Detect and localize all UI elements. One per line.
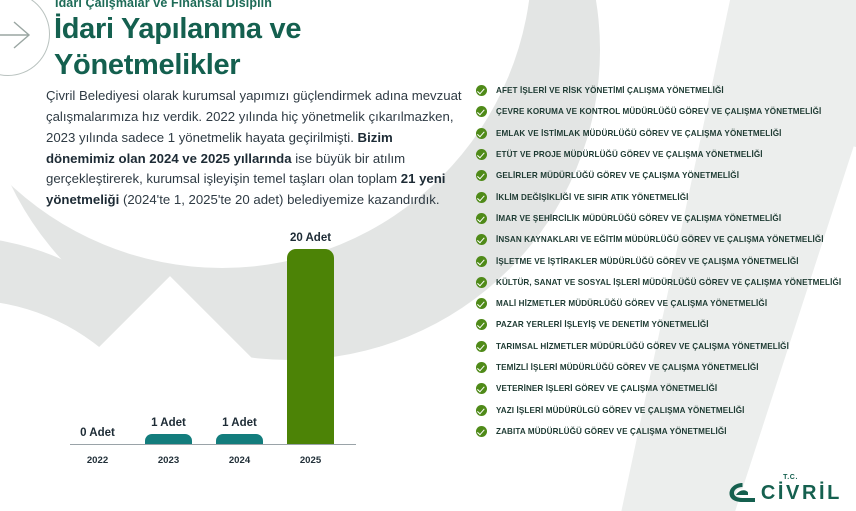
check-circle-icon (476, 426, 487, 437)
list-item-label: GELİRLER MÜDÜRLÜĞÜ GÖREV VE ÇALIŞMA YÖNE… (496, 171, 739, 180)
list-item-label: İŞLETME VE İŞTİRAKLER MÜDÜRLÜĞÜ GÖREV VE… (496, 257, 799, 266)
check-circle-icon (476, 128, 487, 139)
bar-value-2023: 1 Adet (135, 417, 202, 429)
check-circle-icon (476, 106, 487, 117)
bar-value-2025: 20 Adet (277, 232, 344, 244)
eyebrow-label: İdari Çalışmalar ve Finansal Disiplin (55, 0, 272, 10)
bar-category-2024: 2024 (206, 455, 273, 466)
list-item: TARIMSAL HİZMETLER MÜDÜRLÜĞÜ GÖREV VE ÇA… (476, 336, 852, 357)
list-item: İKLİM DEĞİŞİKLİĞİ VE SIFIR ATIK YÖNETMEL… (476, 186, 852, 207)
logo-tc-label: T.C. (729, 474, 798, 481)
list-item-label: YAZI İŞLERİ MÜDÜRÜLGÜ GÖREV VE ÇALIŞMA Y… (496, 406, 745, 415)
bar-category-2025: 2025 (277, 455, 344, 466)
body-paragraph: Çivril Belediyesi olarak kurumsal yapımı… (46, 86, 464, 211)
check-circle-icon (476, 85, 487, 96)
body-text-3: (2024'te 1, 2025'te 20 adet) belediyemiz… (119, 192, 439, 207)
arrow-right-circle-icon (0, 0, 50, 76)
list-item: EMLAK VE İSTİMLAK MÜDÜRLÜĞÜ GÖREV VE ÇAL… (476, 123, 852, 144)
logo-wordmark: CİVRİL (761, 483, 842, 503)
list-item-label: İNSAN KAYNAKLARI VE EĞİTİM MÜDÜRLÜĞÜ GÖR… (496, 235, 824, 244)
list-item-label: TEMİZLİ İŞLERİ MÜDÜRLÜĞÜ GÖREV VE ÇALIŞM… (496, 363, 759, 372)
bar-value-2024: 1 Adet (206, 417, 273, 429)
chart-plot-area: 0 Adet20221 Adet20231 Adet202420 Adet202… (60, 222, 360, 472)
check-circle-icon (476, 319, 487, 330)
list-item: AFET İŞLERİ VE RİSK YÖNETİMİ ÇALIŞMA YÖN… (476, 80, 852, 101)
check-circle-icon (476, 192, 487, 203)
list-item: MALİ HİZMETLER MÜDÜRLÜĞÜ GÖREV VE ÇALIŞM… (476, 293, 852, 314)
list-item: ETÜT VE PROJE MÜDÜRLÜĞÜ GÖREV VE ÇALIŞMA… (476, 144, 852, 165)
bar-category-2023: 2023 (135, 455, 202, 466)
check-circle-icon (476, 362, 487, 373)
list-item: YAZI İŞLERİ MÜDÜRÜLGÜ GÖREV VE ÇALIŞMA Y… (476, 399, 852, 420)
body-text-1: Çivril Belediyesi olarak kurumsal yapımı… (46, 88, 462, 145)
civril-logo: T.C. CİVRİL (729, 474, 842, 503)
bar-category-2022: 2022 (64, 455, 131, 466)
list-item: KÜLTÜR, SANAT VE SOSYAL İŞLERİ MÜDÜRLÜĞÜ… (476, 272, 852, 293)
check-circle-icon (476, 170, 487, 181)
check-circle-icon (476, 405, 487, 416)
list-item-label: ZABITA MÜDÜRLÜĞÜ GÖREV VE ÇALIŞMA YÖNETM… (496, 427, 727, 436)
check-circle-icon (476, 298, 487, 309)
list-item: İNSAN KAYNAKLARI VE EĞİTİM MÜDÜRLÜĞÜ GÖR… (476, 229, 852, 250)
list-item-label: İMAR VE ŞEHİRCİLİK MÜDÜRLÜĞÜ GÖREV VE ÇA… (496, 214, 781, 223)
bar-2025 (287, 249, 334, 444)
list-item-label: TARIMSAL HİZMETLER MÜDÜRLÜĞÜ GÖREV VE ÇA… (496, 342, 789, 351)
yonetmelik-bar-chart: 0 Adet20221 Adet20231 Adet202420 Adet202… (60, 222, 380, 492)
list-item: PAZAR YERLERİ İŞLEYİŞ VE DENETİM YÖNETME… (476, 314, 852, 335)
list-item-label: PAZAR YERLERİ İŞLEYİŞ VE DENETİM YÖNETME… (496, 320, 709, 329)
check-circle-icon (476, 277, 487, 288)
list-item-label: EMLAK VE İSTİMLAK MÜDÜRLÜĞÜ GÖREV VE ÇAL… (496, 129, 782, 138)
check-circle-icon (476, 341, 487, 352)
check-circle-icon (476, 149, 487, 160)
page-title: İdari Yapılanma ve Yönetmelikler (54, 12, 474, 84)
bar-value-2022: 0 Adet (64, 427, 131, 439)
list-item: TEMİZLİ İŞLERİ MÜDÜRLÜĞÜ GÖREV VE ÇALIŞM… (476, 357, 852, 378)
list-item-label: MALİ HİZMETLER MÜDÜRLÜĞÜ GÖREV VE ÇALIŞM… (496, 299, 767, 308)
list-item-label: KÜLTÜR, SANAT VE SOSYAL İŞLERİ MÜDÜRLÜĞÜ… (496, 278, 841, 287)
list-item-label: AFET İŞLERİ VE RİSK YÖNETİMİ ÇALIŞMA YÖN… (496, 86, 724, 95)
list-item: GELİRLER MÜDÜRLÜĞÜ GÖREV VE ÇALIŞMA YÖNE… (476, 165, 852, 186)
list-item: ZABITA MÜDÜRLÜĞÜ GÖREV VE ÇALIŞMA YÖNETM… (476, 421, 852, 442)
check-circle-icon (476, 213, 487, 224)
bar-2024 (216, 434, 263, 444)
check-circle-icon (476, 234, 487, 245)
check-circle-icon (476, 383, 487, 394)
list-item: ÇEVRE KORUMA VE KONTROL MÜDÜRLÜĞÜ GÖREV … (476, 101, 852, 122)
list-item: İMAR VE ŞEHİRCİLİK MÜDÜRLÜĞÜ GÖREV VE ÇA… (476, 208, 852, 229)
list-item-label: ÇEVRE KORUMA VE KONTROL MÜDÜRLÜĞÜ GÖREV … (496, 107, 821, 116)
list-item-label: ETÜT VE PROJE MÜDÜRLÜĞÜ GÖREV VE ÇALIŞMA… (496, 150, 763, 159)
bar-2023 (145, 434, 192, 444)
list-item: VETERİNER İŞLERİ GÖREV VE ÇALIŞMA YÖNETM… (476, 378, 852, 399)
list-item-label: VETERİNER İŞLERİ GÖREV VE ÇALIŞMA YÖNETM… (496, 384, 717, 393)
check-circle-icon (476, 256, 487, 267)
list-item-label: İKLİM DEĞİŞİKLİĞİ VE SIFIR ATIK YÖNETMEL… (496, 193, 689, 202)
list-item: İŞLETME VE İŞTİRAKLER MÜDÜRLÜĞÜ GÖREV VE… (476, 250, 852, 271)
yonetmelik-list: AFET İŞLERİ VE RİSK YÖNETİMİ ÇALIŞMA YÖN… (476, 80, 852, 442)
civril-crest-icon (729, 482, 756, 503)
arrow-right-icon (0, 15, 37, 55)
